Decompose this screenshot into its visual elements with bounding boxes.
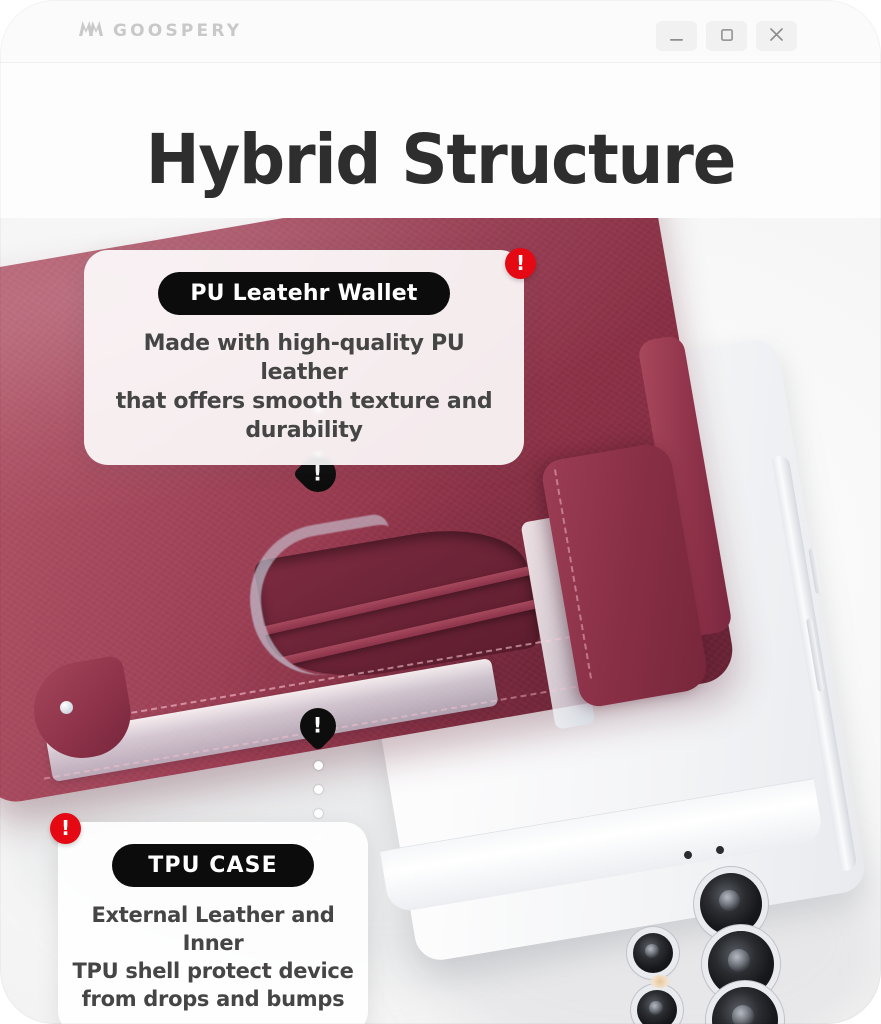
- callout-chip-tpu-case: TPU CASE: [112, 844, 314, 887]
- minimize-icon: [670, 29, 683, 44]
- connector-dot: [314, 785, 323, 794]
- phone-corner-highlight: [60, 701, 73, 714]
- brand-logo: GOOSPERY: [78, 20, 242, 42]
- callout-chip-pu-leather: PU Leatehr Wallet: [158, 272, 449, 315]
- callout-description-tpu-case: External Leather and Inner TPU shell pro…: [72, 901, 354, 1013]
- camera-lens: [712, 987, 778, 1024]
- alert-badge-tpu-case: !: [50, 813, 81, 844]
- goospery-m-logo-icon: [78, 20, 104, 42]
- maximize-icon: [721, 29, 733, 44]
- camera-lens: [633, 933, 673, 973]
- window-title-bar: GOOSPERY: [0, 0, 881, 63]
- camera-lens: [637, 990, 677, 1024]
- callout-card-tpu-case: TPU CASE External Leather and Inner TPU …: [58, 822, 368, 1024]
- window-controls: [656, 21, 797, 51]
- close-icon: [770, 28, 783, 44]
- minimize-button[interactable]: [656, 21, 697, 51]
- application-window: GOOSPERY: [0, 0, 881, 1024]
- connector-dot: [314, 809, 323, 818]
- callout-description-pu-leather: Made with high-quality PU leather that o…: [98, 329, 510, 445]
- maximize-button[interactable]: [706, 21, 747, 51]
- alert-badge-pu-leather: !: [505, 248, 536, 279]
- close-button[interactable]: [756, 21, 797, 51]
- brand-name: GOOSPERY: [113, 21, 242, 41]
- page-title: Hybrid Structure: [31, 118, 850, 202]
- connector-dot: [314, 761, 323, 770]
- camera-flash-icon: [650, 975, 670, 988]
- camera-lens: [700, 873, 762, 935]
- callout-card-pu-leather: PU Leatehr Wallet Made with high-quality…: [84, 250, 524, 465]
